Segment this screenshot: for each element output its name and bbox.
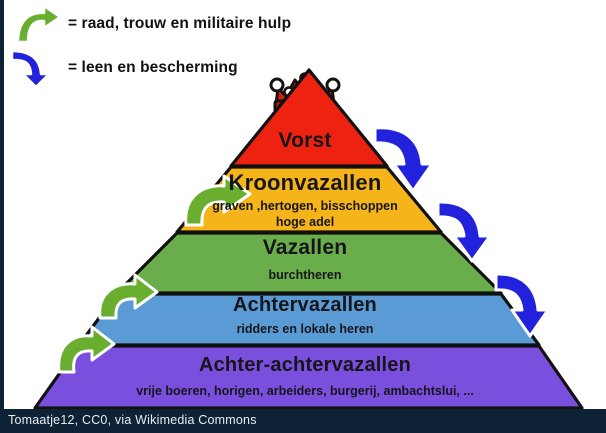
pyramid-shapes — [4, 0, 606, 412]
pyramid-diagram: Vorst Kroonvazallen graven ,hertogen, bi… — [4, 0, 606, 412]
image-frame: = raad, trouw en militaire hulp = leen e… — [0, 0, 606, 433]
tier-achtervazallen-shape — [79, 294, 539, 345]
tier-vorst-shape — [231, 70, 387, 166]
caption-bar: Tomaatje12, CC0, via Wikimedia Commons — [0, 409, 606, 433]
diagram-canvas: = raad, trouw en militaire hulp = leen e… — [4, 0, 606, 412]
tier-vazallen-shape — [117, 233, 501, 293]
tier-achter-achtervazallen-shape — [35, 346, 582, 408]
attribution-caption: Tomaatje12, CC0, via Wikimedia Commons — [8, 413, 257, 427]
